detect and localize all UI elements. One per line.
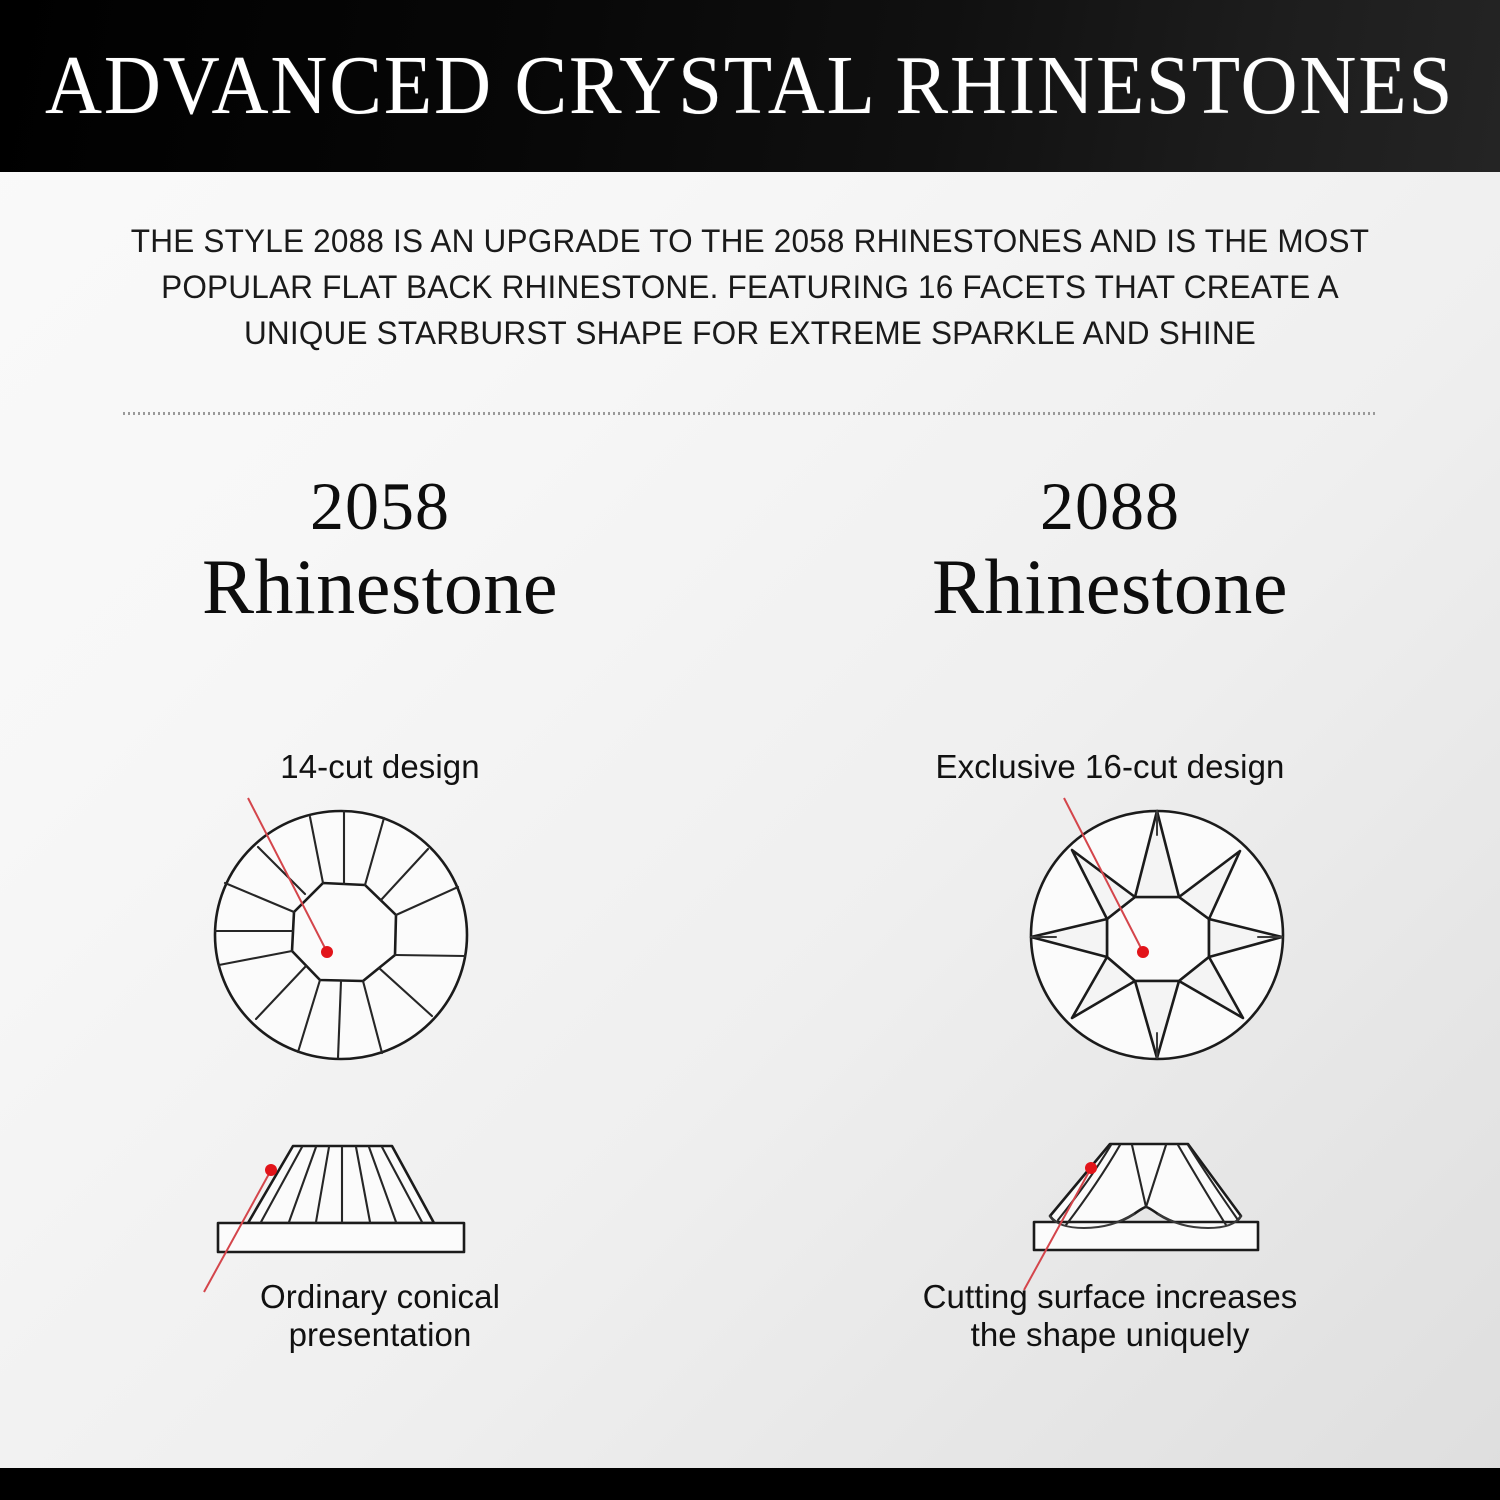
label-2058-top-view: 14-cut design: [60, 748, 700, 786]
column-2088-title: 2088 Rhinestone: [790, 470, 1430, 629]
header-banner: ADVANCED CRYSTAL RHINESTONES: [0, 0, 1500, 172]
footer-bar: [0, 1468, 1500, 1500]
column-2088-word: Rhinestone: [790, 546, 1430, 629]
intro-paragraph: THE STYLE 2088 IS AN UPGRADE TO THE 2058…: [129, 218, 1371, 356]
label-2088-top-view: Exclusive 16-cut design: [790, 748, 1430, 786]
column-2058: 2058 Rhinestone: [60, 470, 700, 629]
infographic-page: ADVANCED CRYSTAL RHINESTONES THE STYLE 2…: [0, 0, 1500, 1500]
column-2088: 2088 Rhinestone: [790, 470, 1430, 629]
diagram-2058-side-view: [196, 1130, 486, 1270]
column-2058-word: Rhinestone: [60, 546, 700, 629]
label-2088-side-line1: Cutting surface increases: [923, 1278, 1298, 1315]
section-divider: [123, 412, 1377, 415]
column-2058-number: 2058: [60, 470, 700, 542]
label-2058-side-line1: Ordinary conical: [260, 1278, 500, 1315]
label-2058-side-view: Ordinary conical presentation: [60, 1278, 700, 1355]
diagram-2088-top-view: [1022, 805, 1292, 1065]
column-2088-number: 2088: [790, 470, 1430, 542]
diagram-2058-top-view: [206, 805, 476, 1065]
label-2088-side-line2: the shape uniquely: [971, 1316, 1250, 1353]
label-2058-side-line2: presentation: [289, 1316, 472, 1353]
column-2058-title: 2058 Rhinestone: [60, 470, 700, 629]
label-2088-side-view: Cutting surface increases the shape uniq…: [790, 1278, 1430, 1355]
page-title: ADVANCED CRYSTAL RHINESTONES: [45, 44, 1454, 128]
diagram-2088-side-view: [998, 1128, 1294, 1273]
